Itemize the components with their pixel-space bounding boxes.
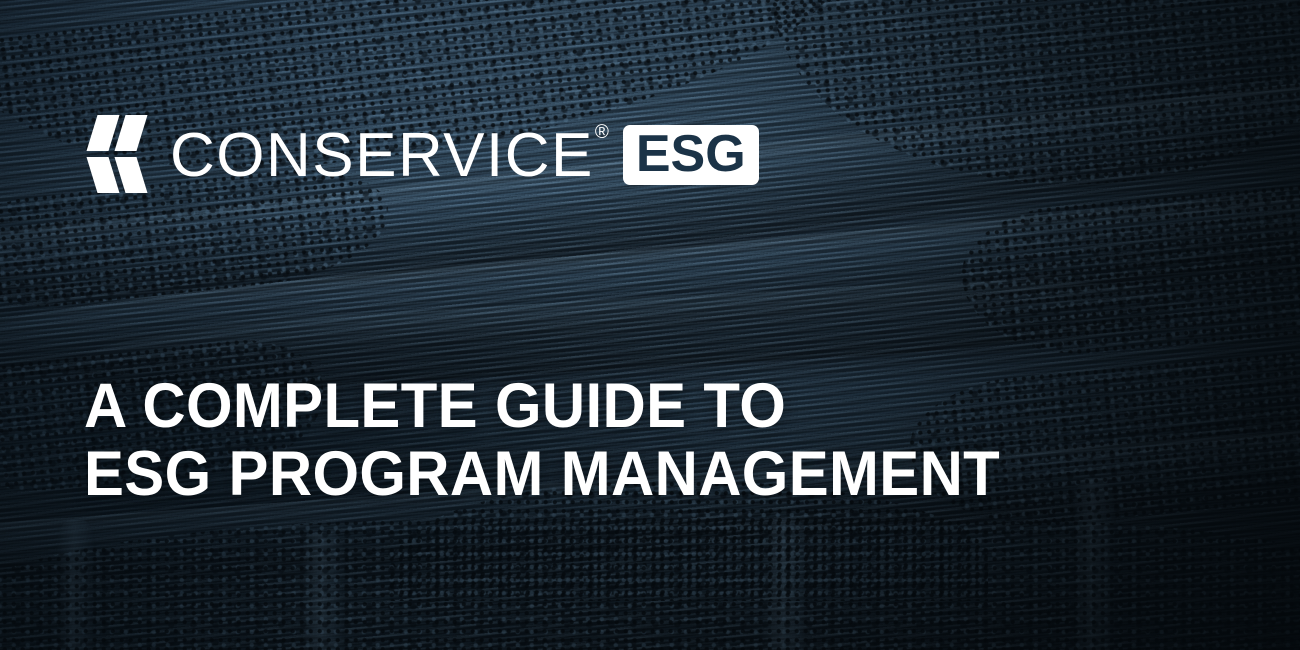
esg-badge: ESG bbox=[623, 125, 759, 185]
registered-trademark-icon: ® bbox=[595, 122, 609, 143]
page-title: A COMPLETE GUIDE TO ESG PROGRAM MANAGEME… bbox=[84, 372, 1048, 508]
wordmark-text: CONSERVICE bbox=[170, 121, 594, 190]
headline-line-2: ESG PROGRAM MANAGEMENT bbox=[84, 440, 1000, 508]
conservice-wordmark: CONSERVICE® bbox=[170, 125, 608, 187]
esg-guide-banner: CONSERVICE® ESG A COMPLETE GUIDE TO ESG … bbox=[0, 0, 1300, 650]
banner-content: CONSERVICE® ESG A COMPLETE GUIDE TO ESG … bbox=[0, 0, 1300, 650]
conservice-chevron-mark-icon bbox=[84, 115, 156, 193]
conservice-esg-logo[interactable]: CONSERVICE® ESG bbox=[84, 112, 759, 196]
headline-line-1: A COMPLETE GUIDE TO bbox=[84, 372, 1000, 440]
